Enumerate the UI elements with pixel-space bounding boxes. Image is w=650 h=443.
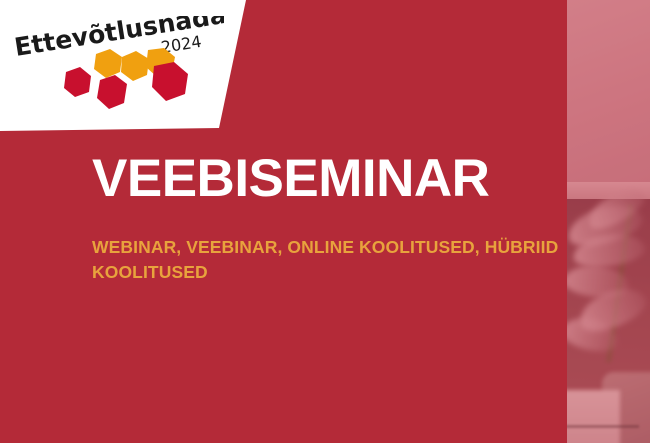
ettevotlusnadal-logo-badge: Ettevõtlusnädal 2024 xyxy=(0,0,250,160)
background-photo xyxy=(562,0,650,443)
headline-block: VEEBISEMINAR WEBINAR, VEEBINAR, ONLINE K… xyxy=(92,152,562,285)
hex-orange-middle xyxy=(121,51,149,81)
hex-red-left xyxy=(64,67,91,97)
hex-red-middle xyxy=(97,75,127,109)
webinar-banner: Ettevõtlusnädal 2024 VEEBISEMINAR WEBINA… xyxy=(0,0,650,443)
subtitle-text: WEBINAR, VEEBINAR, ONLINE KOOLITUSED, HÜ… xyxy=(92,205,562,285)
logo-hexagon-cluster xyxy=(58,48,198,120)
hex-red-right xyxy=(152,62,188,101)
photo-left-edge xyxy=(562,0,567,443)
hex-orange-left xyxy=(94,49,122,78)
photo-red-tint-overlay xyxy=(562,0,650,443)
page-title: VEEBISEMINAR xyxy=(92,152,562,205)
